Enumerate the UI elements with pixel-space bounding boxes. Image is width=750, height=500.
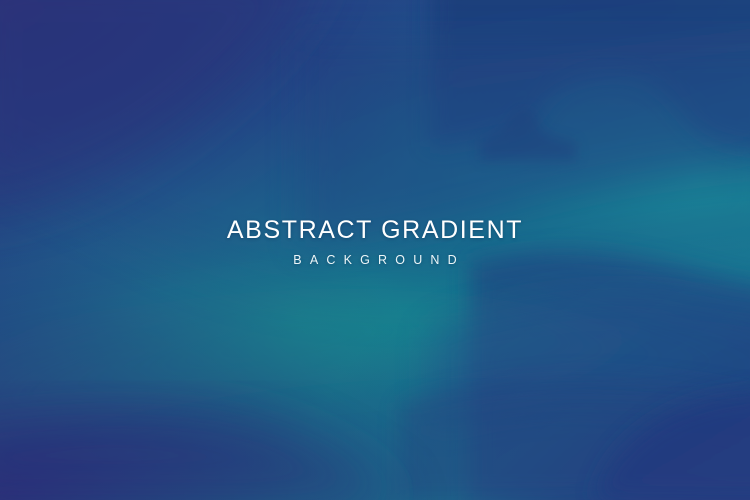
wave-bottom-left-shadow xyxy=(0,408,414,500)
gradient-wave-layer xyxy=(0,0,750,500)
gradient-poster: ABSTRACT GRADIENT BACKGROUND xyxy=(0,0,750,500)
